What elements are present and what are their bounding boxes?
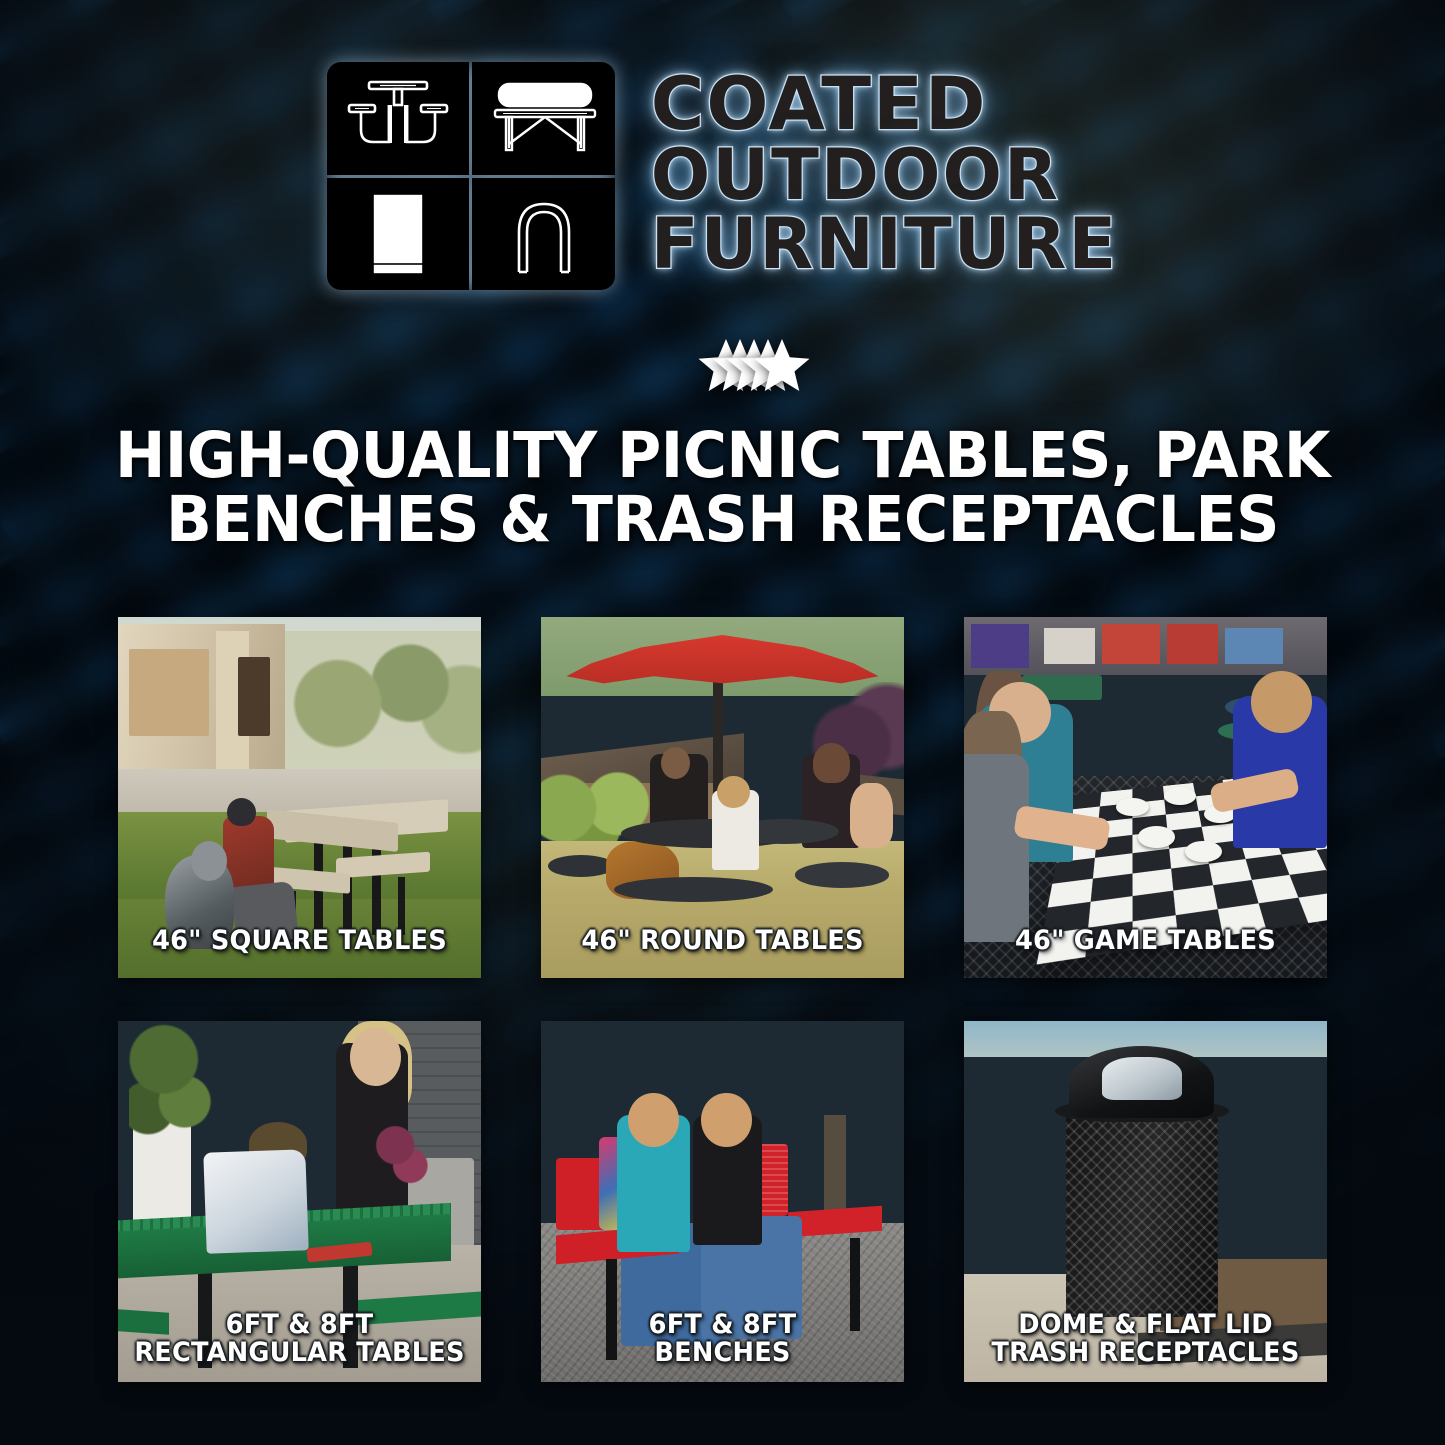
product-photo-square-tables	[118, 617, 481, 978]
caption-line-1: 6FT & 8FT	[550, 1311, 895, 1340]
product-caption-trash-receptacles: DOME & FLAT LID TRASH RECEPTACLES	[973, 1311, 1318, 1368]
product-tile-trash-receptacles[interactable]: DOME & FLAT LID TRASH RECEPTACLES	[964, 1021, 1327, 1382]
caption-line-2: BENCHES	[550, 1339, 895, 1368]
headline-line-2: BENCHES & TRASH RECEPTACLES	[71, 488, 1375, 552]
caption-line-1: 6FT & 8FT	[127, 1311, 472, 1340]
product-grid: 46" SQUARE TABLES	[118, 617, 1327, 1382]
promo-graphic: COATED OUTDOOR FURNITURE HIGH-QUALITY PI…	[0, 0, 1445, 1445]
caption-line-2: TRASH RECEPTACLES	[973, 1339, 1318, 1368]
product-tile-round-tables[interactable]: 46" ROUND TABLES	[541, 617, 904, 978]
brand-line-3: FURNITURE	[651, 211, 1119, 278]
brand-line-1: COATED	[651, 70, 1119, 140]
picnic-table-side-icon	[472, 62, 615, 175]
brand-line-2: OUTDOOR	[651, 142, 1119, 209]
caption-line-1: 46" SQUARE TABLES	[127, 927, 472, 956]
product-tile-game-tables[interactable]: 46" GAME TABLES	[964, 617, 1327, 978]
headline-line-1: HIGH-QUALITY PICNIC TABLES, PARK	[71, 424, 1375, 488]
brand-wordmark: COATED OUTDOOR FURNITURE	[651, 70, 1119, 282]
product-caption-square-tables: 46" SQUARE TABLES	[127, 927, 472, 956]
bike-rack-arch-icon	[472, 178, 615, 291]
brand-lockup: COATED OUTDOOR FURNITURE	[0, 62, 1445, 290]
product-caption-game-tables: 46" GAME TABLES	[973, 927, 1318, 956]
product-photo-round-tables	[541, 617, 904, 978]
product-tile-square-tables[interactable]: 46" SQUARE TABLES	[118, 617, 481, 978]
product-caption-round-tables: 46" ROUND TABLES	[550, 927, 895, 956]
caption-line-1: 46" GAME TABLES	[973, 927, 1318, 956]
picnic-table-front-icon	[327, 62, 470, 175]
caption-line-1: 46" ROUND TABLES	[550, 927, 895, 956]
brand-logo-mark	[327, 62, 615, 290]
product-caption-benches: 6FT & 8FT BENCHES	[550, 1311, 895, 1368]
product-caption-rectangular-tables: 6FT & 8FT RECTANGULAR TABLES	[127, 1311, 472, 1368]
trash-receptacle-icon	[327, 178, 470, 291]
product-photo-game-tables	[964, 617, 1327, 978]
product-tile-benches[interactable]: 6FT & 8FT BENCHES	[541, 1021, 904, 1382]
product-tile-rectangular-tables[interactable]: 6FT & 8FT RECTANGULAR TABLES	[118, 1021, 481, 1382]
headline: HIGH-QUALITY PICNIC TABLES, PARK BENCHES…	[71, 424, 1375, 553]
caption-line-1: DOME & FLAT LID	[973, 1311, 1318, 1340]
caption-line-2: RECTANGULAR TABLES	[127, 1339, 472, 1368]
